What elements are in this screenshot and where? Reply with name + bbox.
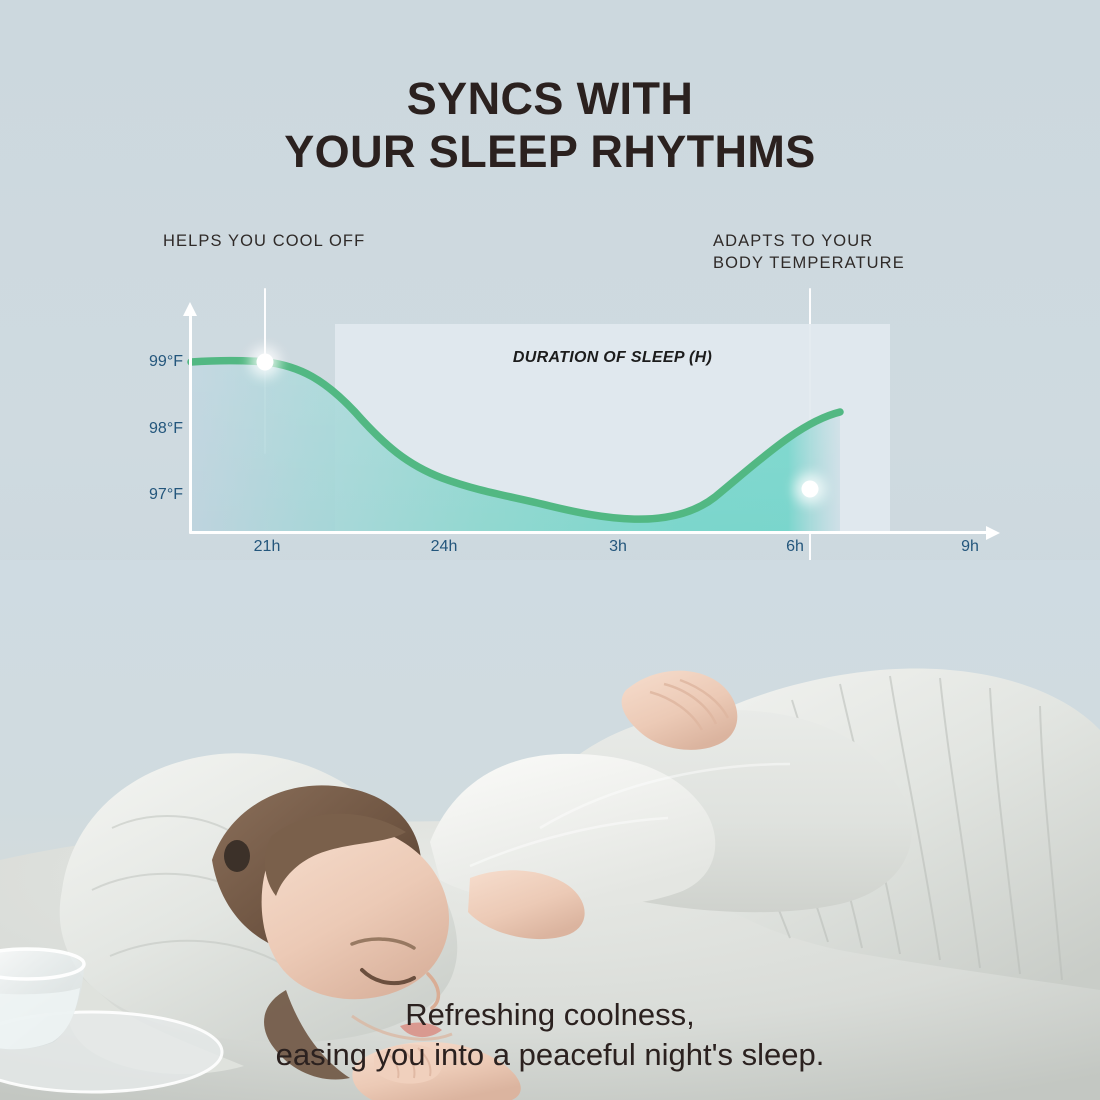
plot-area: DURATION OF SLEEP (H)	[150, 300, 1010, 550]
hair-clip	[224, 840, 250, 872]
x-tick-21h: 21h	[254, 538, 281, 556]
data-point-body-temperature	[802, 481, 819, 498]
x-tick-24h: 24h	[431, 538, 458, 556]
x-tick-9h: 9h	[961, 538, 979, 556]
page-title: SYNCS WITH YOUR SLEEP RHYTHMS	[0, 72, 1100, 178]
y-axis-arrow-icon	[183, 302, 197, 316]
headline-line-1: SYNCS WITH	[407, 73, 694, 124]
callout-adapts-body-temperature: ADAPTS TO YOUR BODY TEMPERATURE	[713, 230, 905, 275]
temperature-chart: HELPS YOU COOL OFF ADAPTS TO YOUR BODY T…	[0, 200, 1100, 570]
y-axis-labels: 99°F 98°F 97°F	[135, 300, 183, 550]
data-point-cool-off	[257, 354, 274, 371]
footer-line-1: Refreshing coolness,	[405, 997, 695, 1032]
y-axis	[189, 315, 192, 534]
y-tick-97: 97°F	[149, 486, 183, 504]
callout-cool-off: HELPS YOU COOL OFF	[163, 230, 365, 252]
x-axis	[189, 531, 989, 534]
y-tick-98: 98°F	[149, 420, 183, 438]
x-tick-3h: 3h	[609, 538, 627, 556]
x-tick-6h: 6h	[786, 538, 804, 556]
footer-line-2: easing you into a peaceful night's sleep…	[0, 1035, 1100, 1075]
headline-line-2: YOUR SLEEP RHYTHMS	[0, 125, 1100, 178]
temperature-curve	[150, 300, 1010, 550]
curve-area-fill-highlight	[191, 361, 840, 532]
y-tick-99: 99°F	[149, 353, 183, 371]
footer-tagline: Refreshing coolness, easing you into a p…	[0, 995, 1100, 1074]
promo-page: SYNCS WITH YOUR SLEEP RHYTHMS HELPS YOU …	[0, 0, 1100, 1100]
